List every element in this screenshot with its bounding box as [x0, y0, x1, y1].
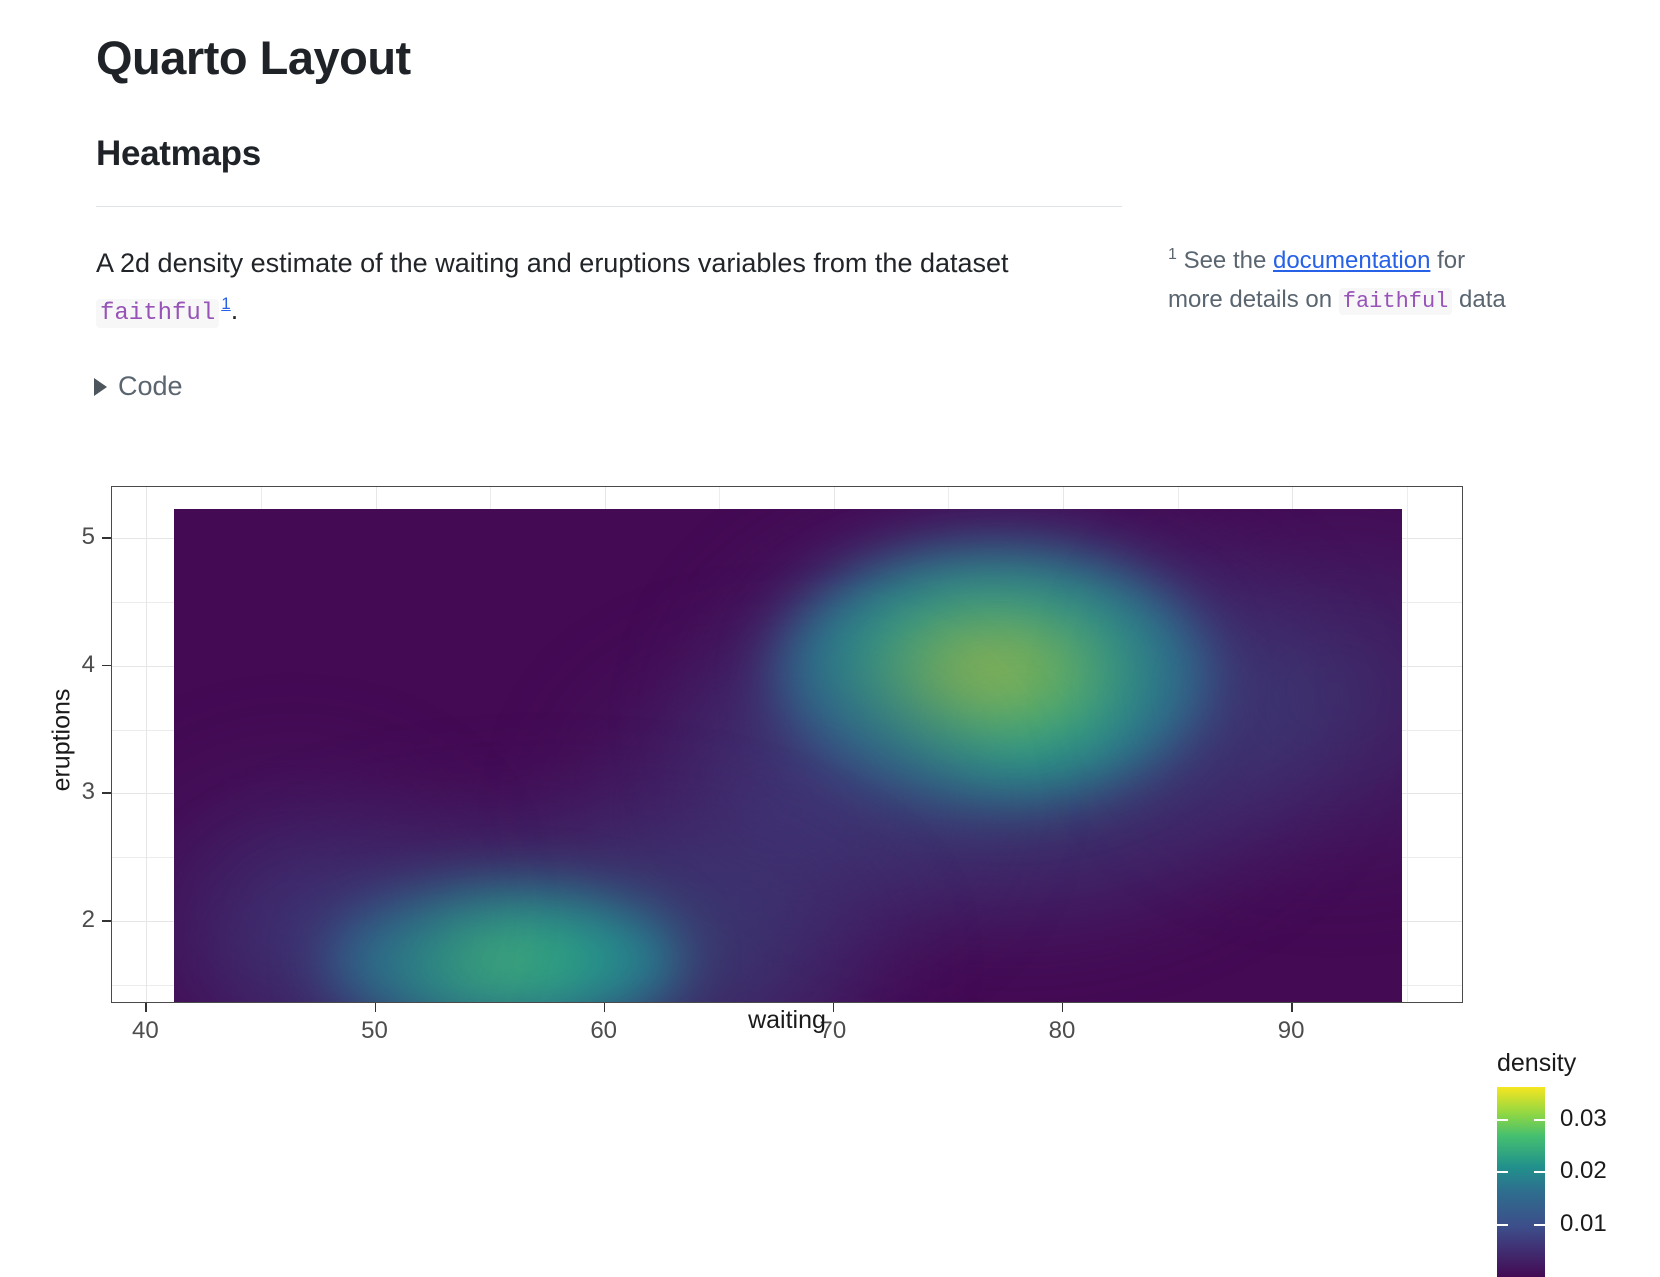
paragraph-trailing-text: . [231, 295, 239, 325]
footnote-reference-link[interactable]: 1 [219, 294, 230, 313]
legend-tick-left [1497, 1171, 1508, 1173]
margin-footnote: 1 See the documentation for more details… [1168, 241, 1518, 321]
x-tick-mark [1291, 1003, 1293, 1012]
x-axis-title: waiting [748, 1006, 826, 1035]
y-tick-mark [102, 792, 111, 794]
y-tick-mark [102, 537, 111, 539]
legend-tick-label: 0.03 [1560, 1105, 1607, 1133]
footnote-tail: data [1452, 286, 1505, 313]
documentation-link[interactable]: documentation [1273, 247, 1430, 274]
legend-colorbar [1497, 1087, 1545, 1277]
quarto-page: Quarto Layout Heatmaps A 2d density esti… [0, 0, 1660, 1200]
code-fold-label: Code [118, 371, 183, 402]
inline-code-faithful-note: faithful [1339, 288, 1453, 315]
x-tick-mark [604, 1003, 606, 1012]
body-paragraph: A 2d density estimate of the waiting and… [96, 240, 1106, 337]
code-fold-toggle[interactable]: Code [94, 371, 183, 402]
x-tick-mark [1062, 1003, 1064, 1012]
y-tick-label: 2 [65, 906, 95, 934]
plot-panel [111, 486, 1463, 1003]
x-tick-label: 40 [132, 1017, 159, 1045]
chevron-right-icon [94, 378, 107, 396]
page-title: Quarto Layout [96, 30, 411, 86]
legend-tick-right [1534, 1171, 1545, 1173]
heatmap-raster [174, 509, 1402, 1003]
legend-tick-right [1534, 1224, 1545, 1226]
y-tick-mark [102, 665, 111, 667]
x-tick-label: 80 [1049, 1017, 1076, 1045]
legend-tick-label: 0.02 [1560, 1157, 1607, 1185]
gridline-vertical-major [146, 487, 147, 1002]
x-tick-mark [833, 1003, 835, 1012]
x-tick-label: 90 [1278, 1017, 1305, 1045]
x-tick-mark [145, 1003, 147, 1012]
x-tick-label: 60 [590, 1017, 617, 1045]
legend-title: density [1497, 1049, 1576, 1078]
gridline-vertical-minor [1407, 487, 1408, 1002]
footnote-before-link: See the [1177, 247, 1273, 274]
x-tick-label: 50 [361, 1017, 388, 1045]
footnote-marker: 1 [1168, 246, 1177, 263]
legend-tick-label: 0.01 [1560, 1210, 1607, 1238]
inline-code-faithful: faithful [96, 299, 219, 328]
heatmap-figure: 4050607080902345 waiting eruptions densi… [0, 440, 1660, 1060]
paragraph-lead-text: A 2d density estimate of the waiting and… [96, 248, 1009, 278]
density-tail-left [174, 759, 474, 1003]
legend-tick-left [1497, 1224, 1508, 1226]
x-tick-mark [375, 1003, 377, 1012]
y-tick-label: 5 [65, 523, 95, 551]
legend-tick-left [1497, 1119, 1508, 1121]
legend-tick-right [1534, 1119, 1545, 1121]
section-heading: Heatmaps [96, 133, 261, 175]
y-tick-mark [102, 920, 111, 922]
y-tick-label: 4 [65, 651, 95, 679]
heading-divider [96, 206, 1122, 207]
y-axis-title: eruptions [48, 689, 77, 792]
